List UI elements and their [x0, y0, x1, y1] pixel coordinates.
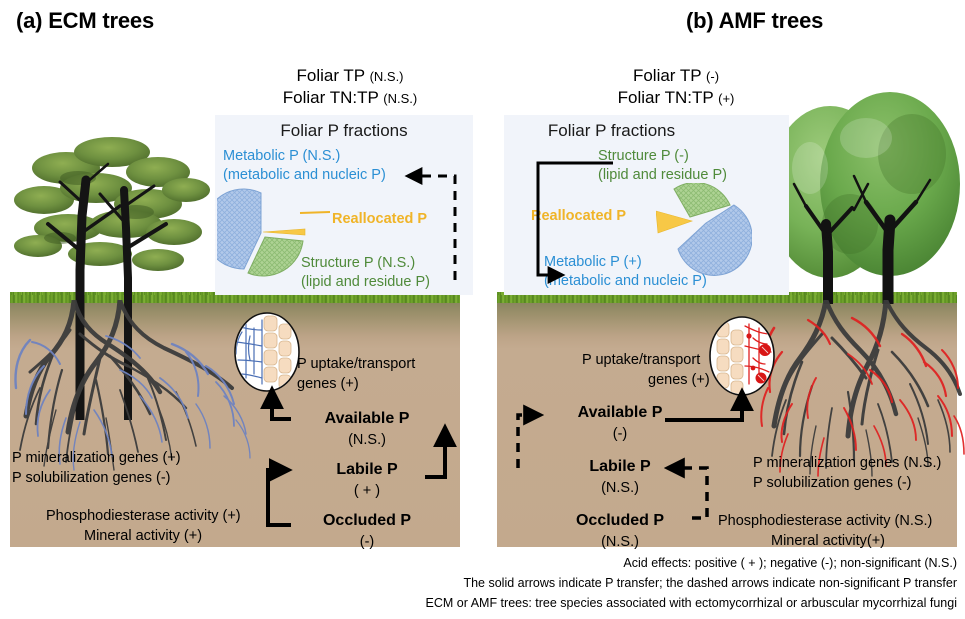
panel-b-uptake-genes-label2: genes (+) — [648, 372, 710, 388]
panel-b-phosphodiesterase: Phosphodiesterase activity (N.S.) — [718, 513, 932, 529]
panel-b-solubilization-text: P solubilization genes (-) — [753, 475, 912, 491]
panel-a-occluded-p-effect: (-) — [292, 534, 442, 550]
panel-a-uptake-genes-label2: genes (+) — [297, 376, 359, 392]
panel-a-foliar-tntp-line: Foliar TN:TP (N.S.) — [230, 88, 470, 108]
caption-line-2-text: The solid arrows indicate P transfer; th… — [463, 576, 957, 590]
panel-a-mineral-activity-text: Mineral activity (+) — [84, 528, 202, 544]
panel-b-structure-sub: (lipid and residue P) — [598, 167, 727, 183]
panel-a-phosphodiesterase: Phosphodiesterase activity (+) — [46, 508, 241, 524]
panel-b-metabolic-text: Metabolic P (+) — [544, 254, 642, 270]
panel-b-uptake-text: P uptake/transport — [582, 352, 700, 368]
panel-b-uptake-genes-label: P uptake/transport — [582, 352, 700, 368]
caption-line-1-text: Acid effects: positive ( + ); negative (… — [623, 556, 957, 570]
panel-b-reallocated-label: Reallocated P — [531, 208, 626, 224]
panel-a-reallocated-text: Reallocated P — [332, 211, 427, 227]
panel-b-available-p-text: Available P — [578, 404, 663, 421]
panel-a-fractions-title: Foliar P fractions — [215, 121, 473, 141]
panel-b-occluded-p: Occluded P — [545, 512, 695, 530]
caption-line-1: Acid effects: positive ( + ); negative (… — [623, 556, 957, 570]
panel-b-mineralization-genes: P mineralization genes (N.S.) — [753, 455, 941, 471]
panel-a-mineralization-genes: P mineralization genes (+) — [12, 450, 181, 466]
panel-a-available-p-effect-text: (N.S.) — [348, 432, 386, 448]
panel-a-foliar-tp-line: Foliar TP (N.S.) — [230, 66, 470, 86]
panel-b-labile-p-effect: (N.S.) — [545, 480, 695, 496]
panel-b-mineral-activity: Mineral activity(+) — [771, 533, 885, 549]
panel-a-foliar-fractions-box: Foliar P fractions Metabolic P (N.S.) (m… — [215, 115, 473, 295]
panel-b-structure-sub-text: (lipid and residue P) — [598, 167, 727, 183]
panel-a-metabolic-sub-text: (metabolic and nucleic P) — [223, 167, 386, 183]
caption-line-3: ECM or AMF trees: tree species associate… — [426, 596, 957, 610]
panel-b-structure-label: Structure P (-) — [598, 148, 689, 164]
panel-b-foliar-fractions-box: Foliar P fractions Structure P (-) (lipi… — [504, 115, 789, 295]
panel-a-solubilization-genes: P solubilization genes (-) — [12, 470, 171, 486]
panel-b-structure-text: Structure P (-) — [598, 148, 689, 164]
panel-b-foliar-tp-label: Foliar TP — [633, 66, 701, 85]
panel-a-labile-p-text: Labile P — [336, 461, 397, 478]
caption-line-2: The solid arrows indicate P transfer; th… — [463, 576, 957, 590]
panel-a-foliar-tntp-label: Foliar TN:TP — [283, 88, 379, 107]
panel-b-mineralization-text: P mineralization genes (N.S.) — [753, 455, 941, 471]
panel-a-reallocated-label: Reallocated P — [332, 211, 427, 227]
panel-a-mineralization-text: P mineralization genes (+) — [12, 450, 181, 466]
panel-b-foliar-tntp-label: Foliar TN:TP — [618, 88, 714, 107]
panel-b-fractions-title: Foliar P fractions — [504, 121, 719, 141]
panel-a-occluded-p-effect-text: (-) — [360, 534, 375, 550]
panel-b-reallocated-text: Reallocated P — [531, 208, 626, 224]
panel-a-metabolic-sub: (metabolic and nucleic P) — [223, 167, 386, 183]
panel-a-structure-sub-text: (lipid and residue P) — [301, 274, 430, 290]
panel-b-available-p: Available P — [545, 404, 695, 422]
panel-a-phosphodiesterase-text: Phosphodiesterase activity (+) — [46, 508, 241, 524]
panel-b-available-p-effect: (-) — [545, 426, 695, 442]
panel-b-occluded-p-effect: (N.S.) — [545, 534, 695, 550]
panel-a-foliar-tp-label: Foliar TP — [296, 66, 364, 85]
amf-root-inset — [709, 316, 775, 396]
panel-a-structure-label: Structure P (N.S.) — [301, 255, 415, 271]
panel-a-uptake-text2: genes (+) — [297, 376, 359, 392]
panel-b-available-p-effect-text: (-) — [613, 426, 628, 442]
panel-a-available-p-effect: (N.S.) — [292, 432, 442, 448]
panel-a-pie-chart — [217, 185, 309, 277]
panel-a-uptake-genes-label: P uptake/transport — [297, 356, 415, 372]
panel-a-uptake-text: P uptake/transport — [297, 356, 415, 372]
panel-b-foliar-tp-effect: (-) — [706, 69, 719, 84]
panel-b-mineral-activity-text: Mineral activity(+) — [771, 533, 885, 549]
panel-b-labile-p: Labile P — [545, 458, 695, 476]
panel-a-metabolic-text: Metabolic P (N.S.) — [223, 148, 340, 164]
panel-b-foliar-tntp-line: Foliar TN:TP (+) — [556, 88, 796, 108]
panel-b-solubilization-genes: P solubilization genes (-) — [753, 475, 912, 491]
panel-a-labile-p-effect-text: ( + ) — [354, 483, 380, 499]
figure-root: (a) ECM trees (b) AMF trees — [0, 0, 965, 619]
panel-a-available-p-text: Available P — [325, 410, 410, 427]
panel-a-available-p: Available P — [292, 410, 442, 428]
panel-a-labile-p-effect: ( + ) — [292, 483, 442, 499]
panel-a-structure-text: Structure P (N.S.) — [301, 255, 415, 271]
panel-a-mineral-activity: Mineral activity (+) — [84, 528, 202, 544]
panel-b-pie-chart — [656, 183, 752, 279]
panel-b-phosphodiesterase-text: Phosphodiesterase activity (N.S.) — [718, 513, 932, 529]
panel-b-foliar-tp-line: Foliar TP (-) — [556, 66, 796, 86]
caption-line-3-text: ECM or AMF trees: tree species associate… — [426, 596, 957, 610]
ecm-root-inset — [234, 312, 300, 392]
panel-a-foliar-tntp-effect: (N.S.) — [383, 91, 417, 106]
panel-a-occluded-p: Occluded P — [292, 512, 442, 530]
panel-a-title: (a) ECM trees — [16, 8, 154, 34]
panel-b-occluded-p-text: Occluded P — [576, 512, 664, 529]
panel-b-foliar-tntp-effect: (+) — [718, 91, 734, 106]
panel-b-labile-p-text: Labile P — [589, 458, 650, 475]
panel-b-metabolic-label: Metabolic P (+) — [544, 254, 642, 270]
panel-b-title: (b) AMF trees — [686, 8, 823, 34]
panel-b-uptake-text2: genes (+) — [648, 372, 710, 388]
panel-a-occluded-p-text: Occluded P — [323, 512, 411, 529]
panel-a-structure-sub: (lipid and residue P) — [301, 274, 430, 290]
panel-b-labile-p-effect-text: (N.S.) — [601, 480, 639, 496]
panel-b-occluded-p-effect-text: (N.S.) — [601, 534, 639, 550]
panel-a-foliar-tp-effect: (N.S.) — [370, 69, 404, 84]
panel-a-solubilization-text: P solubilization genes (-) — [12, 470, 171, 486]
panel-a-labile-p: Labile P — [292, 461, 442, 479]
amf-tree-illustration — [762, 84, 965, 304]
panel-a-metabolic-label: Metabolic P (N.S.) — [223, 148, 340, 164]
